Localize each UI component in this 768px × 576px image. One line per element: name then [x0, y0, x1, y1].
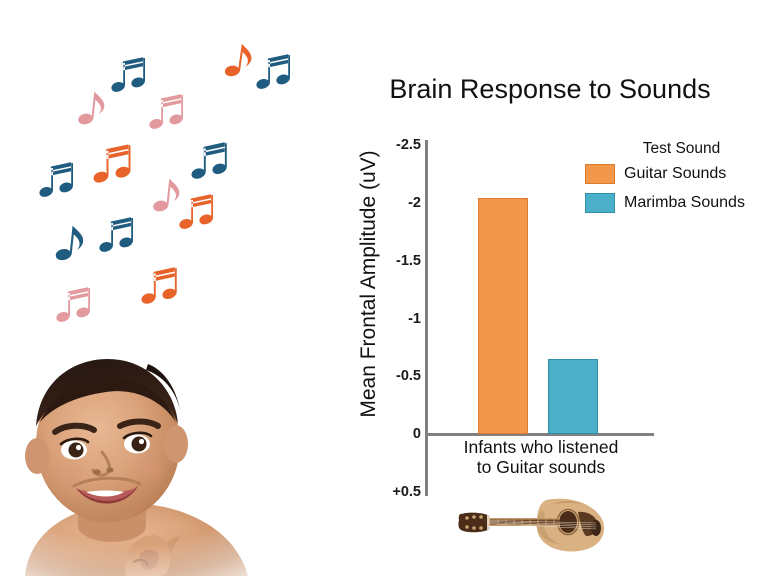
y-tick-label: -1.5	[365, 254, 421, 269]
plot-area: Mean Frontal Amplitude (uV) -2.5-2-1.5-1…	[330, 60, 768, 576]
music-note-beamed-eighth	[148, 92, 188, 132]
x-axis-category-label: Infants who listenedto Guitar sounds	[425, 438, 657, 477]
bar-chart: Brain Response to Sounds Mean Frontal Am…	[330, 60, 768, 576]
music-notes-illustration	[0, 0, 330, 360]
music-note-eighth-note	[43, 220, 89, 266]
music-note-beamed-eighth	[255, 52, 295, 92]
x-axis-line	[425, 433, 654, 436]
legend-entry-label: Marimba Sounds	[624, 194, 745, 212]
music-note-beamed-eighth	[178, 192, 218, 232]
legend-title: Test Sound	[609, 140, 754, 158]
smiling-infant-photo	[0, 340, 330, 576]
slide-canvas: Brain Response to Sounds Mean Frontal Am…	[0, 0, 768, 576]
music-note-eighth-note	[66, 86, 110, 130]
chart-legend: Test Sound Guitar SoundsMarimba Sounds	[585, 140, 768, 221]
y-tick-label: -1	[365, 312, 421, 327]
bar-marimba-sounds[interactable]	[548, 359, 598, 434]
bar-guitar-sounds[interactable]	[478, 198, 528, 434]
legend-entry[interactable]: Guitar Sounds	[585, 163, 768, 185]
music-note-beamed-eighth	[140, 265, 182, 307]
legend-color-swatch	[585, 164, 615, 184]
y-axis-tick-labels: -2.5-2-1.5-1-0.50+0.5	[361, 60, 421, 576]
x-axis-label-line: to Guitar sounds	[425, 458, 657, 478]
y-tick-label: -2.5	[365, 138, 421, 153]
y-tick-label: 0	[365, 427, 421, 442]
music-note-beamed-eighth	[55, 285, 95, 325]
music-note-eighth-note	[212, 37, 257, 82]
legend-entry[interactable]: Marimba Sounds	[585, 192, 768, 214]
music-note-beamed-eighth	[110, 55, 150, 95]
y-tick-label: +0.5	[365, 485, 421, 500]
music-note-beamed-eighth	[98, 215, 138, 255]
x-axis-label-line: Infants who listened	[425, 438, 657, 458]
music-note-beamed-eighth	[190, 140, 232, 182]
legend-color-swatch	[585, 193, 615, 213]
y-tick-label: -2	[365, 196, 421, 211]
legend-entries: Guitar SoundsMarimba Sounds	[585, 163, 768, 214]
music-note-beamed-eighth	[38, 160, 78, 200]
music-note-beamed-eighth	[92, 142, 136, 186]
y-tick-label: -0.5	[365, 369, 421, 384]
acoustic-guitar-image	[450, 492, 610, 554]
legend-entry-label: Guitar Sounds	[624, 165, 726, 183]
